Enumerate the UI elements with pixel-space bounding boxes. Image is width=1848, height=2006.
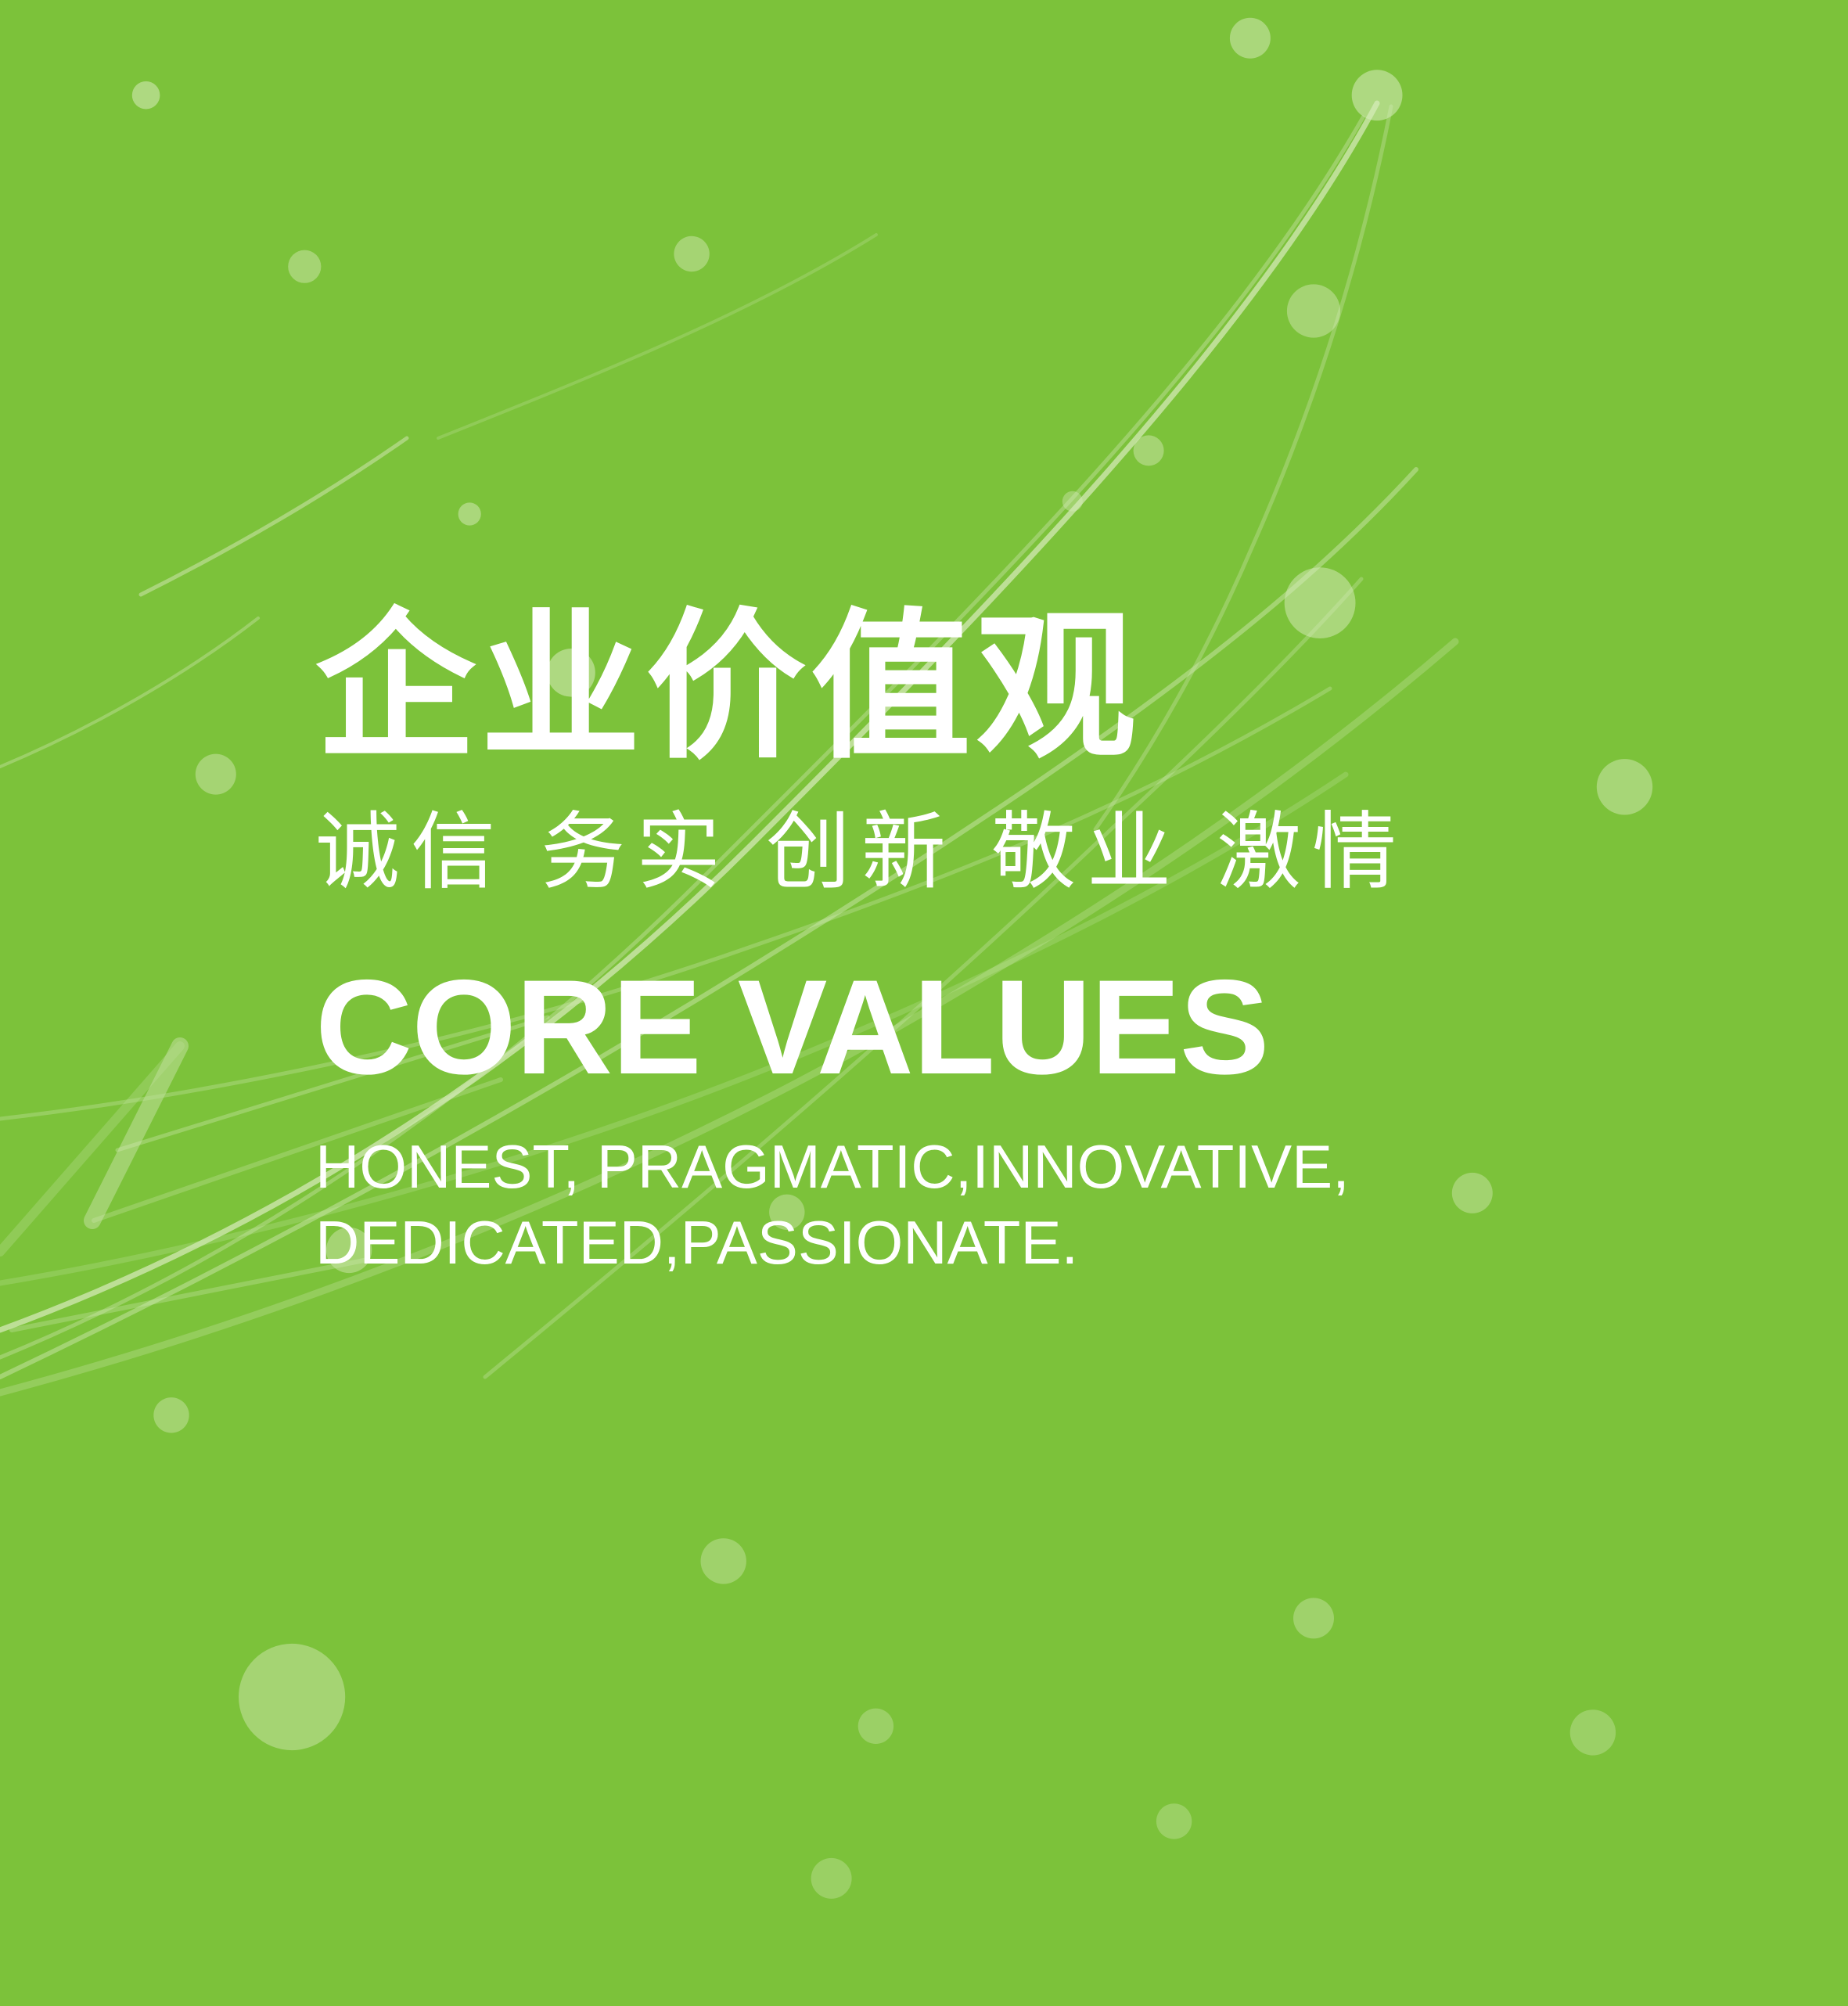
page-title-chinese: 企业价值观 xyxy=(315,602,1661,772)
decor-dot xyxy=(1062,491,1083,512)
core-values-poster: 企业价值观 诚信 务实 创新 敬业 激情 CORE VALUES HONEST,… xyxy=(0,0,1848,2006)
decor-dot xyxy=(811,1858,852,1899)
decor-dot xyxy=(701,1538,746,1584)
body-text-english: HONEST, PRAGMATIC,INNOVATIVE, DEDICATED,… xyxy=(315,1129,1661,1282)
decor-dot xyxy=(288,250,321,283)
body-text-line-1: HONEST, PRAGMATIC,INNOVATIVE, xyxy=(315,1129,1661,1206)
decor-dot xyxy=(858,1709,893,1744)
subtitle-chinese: 诚信 务实 创新 敬业 激情 xyxy=(315,802,1661,901)
decor-dot xyxy=(1293,1598,1334,1638)
body-text-line-2: DEDICATED,PASSIONATE. xyxy=(315,1205,1661,1282)
decor-dot xyxy=(1287,284,1340,337)
text-content-block: 企业价值观 诚信 务实 创新 敬业 激情 CORE VALUES HONEST,… xyxy=(315,602,1661,1282)
decor-dot xyxy=(674,236,709,271)
decor-dot xyxy=(239,1644,345,1750)
decor-dot xyxy=(132,81,160,110)
decor-dot xyxy=(1134,435,1164,466)
decor-dot xyxy=(1156,1803,1192,1839)
decor-dot xyxy=(1230,18,1271,59)
decor-dot xyxy=(458,502,481,525)
decor-dot xyxy=(153,1397,189,1433)
decor-dot xyxy=(1352,70,1403,120)
decor-dot xyxy=(1570,1709,1616,1755)
decor-dot xyxy=(196,754,236,795)
page-title-english: CORE VALUES xyxy=(315,960,1661,1095)
